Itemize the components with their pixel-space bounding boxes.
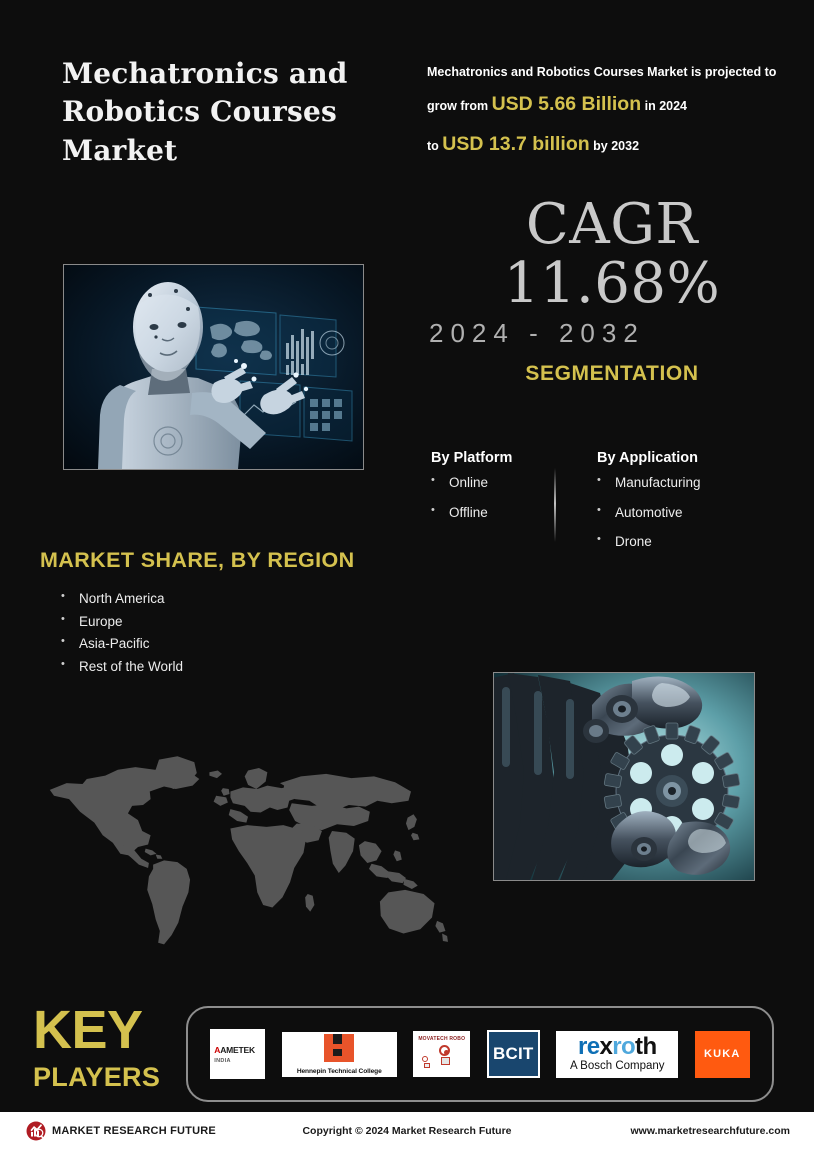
list-item: Europe [61, 615, 183, 629]
movatech-large-robot-icon [439, 1045, 452, 1065]
logo-bcit: BCIT [487, 1030, 540, 1078]
world-map-graphic [33, 742, 453, 957]
intro-in-2024: in 2024 [645, 99, 687, 113]
logo-ametek: AAMETEK INDIA [210, 1029, 265, 1079]
rexroth-wordmark: rexroth [578, 1036, 657, 1059]
rexroth-subtext: A Bosch Company [570, 1060, 665, 1072]
segmentation-heading-platform: By Platform [431, 450, 551, 466]
logo-bosch-rexroth: rexroth A Bosch Company [556, 1031, 678, 1078]
segmentation-column-application: By Application Manufacturing Automotive … [597, 450, 787, 565]
segmentation-heading-application: By Application [597, 450, 787, 466]
kuka-wordmark: KUKA [704, 1048, 741, 1060]
market-projection-text: Mechatronics and Robotics Courses Market… [427, 60, 792, 164]
ametek-subtext: INDIA [214, 1058, 230, 1064]
list-item: Automotive [597, 506, 787, 520]
market-share-region-title: MARKET SHARE, BY REGION [40, 548, 355, 573]
value-2024: USD 5.66 Billion [492, 93, 642, 115]
hennepin-name: Hennepin Technical College [297, 1068, 382, 1075]
list-item: Rest of the World [61, 660, 183, 674]
robotic-hand-gear-illustration [494, 673, 754, 880]
intro-by-2032: by 2032 [593, 139, 639, 153]
list-item: North America [61, 592, 183, 606]
robotic-hand-gear-image [493, 672, 755, 881]
list-item: Offline [431, 506, 551, 520]
key-players-players-text: PLAYERS [33, 1064, 173, 1091]
intro-to: to [427, 139, 439, 153]
value-2032: USD 13.7 billion [442, 133, 589, 155]
region-list: North America Europe Asia-Pacific Rest o… [61, 592, 183, 682]
list-item: Asia-Pacific [61, 637, 183, 651]
humanoid-robot-image [63, 264, 364, 470]
list-item: Drone [597, 535, 787, 549]
movatech-robot-icon [413, 1042, 470, 1072]
footer-website-url[interactable]: www.marketresearchfuture.com [630, 1125, 790, 1137]
segmentation-column-platform: By Platform Online Offline [431, 450, 551, 535]
segmentation-list-platform: Online Offline [431, 476, 551, 519]
logo-hennepin-technical-college: Hennepin Technical College [282, 1032, 397, 1077]
key-players-key-text: KEY [33, 1003, 173, 1057]
infographic-poster: Mechatronics and Robotics Courses Market… [0, 0, 814, 1150]
humanoid-robot-illustration [64, 265, 363, 469]
logo-kuka: KUKA [695, 1031, 750, 1078]
footer-bar: MARKET RESEARCH FUTURE Copyright © 2024 … [0, 1112, 814, 1150]
logo-movatech-robo: MOVATECH ROBO [413, 1031, 470, 1077]
hennepin-h-icon [324, 1034, 354, 1062]
intro-grow-from: grow from [427, 99, 488, 113]
movatech-small-robot-icon [422, 1056, 431, 1068]
world-map-silhouette [33, 742, 453, 957]
intro-line-1: Mechatronics and Robotics Courses Market… [427, 65, 776, 79]
bcit-wordmark: BCIT [489, 1032, 538, 1076]
list-item: Manufacturing [597, 476, 787, 490]
segmentation-list-application: Manufacturing Automotive Drone [597, 476, 787, 549]
cagr-year-range: 2024 - 2032 [427, 318, 797, 349]
page-title: Mechatronics and Robotics Courses Market [62, 55, 407, 170]
cagr-value: CAGR 11.68% [427, 196, 797, 314]
cagr-block: CAGR 11.68% 2024 - 2032 [427, 196, 797, 349]
list-item: Online [431, 476, 551, 490]
segmentation-divider [554, 468, 556, 542]
ametek-wordmark: AAMETEK [214, 1045, 255, 1055]
key-players-logo-box: AAMETEK INDIA Hennepin Technical College… [186, 1006, 774, 1102]
key-players-label: KEY PLAYERS [33, 1003, 173, 1091]
segmentation-title: SEGMENTATION [427, 362, 797, 386]
